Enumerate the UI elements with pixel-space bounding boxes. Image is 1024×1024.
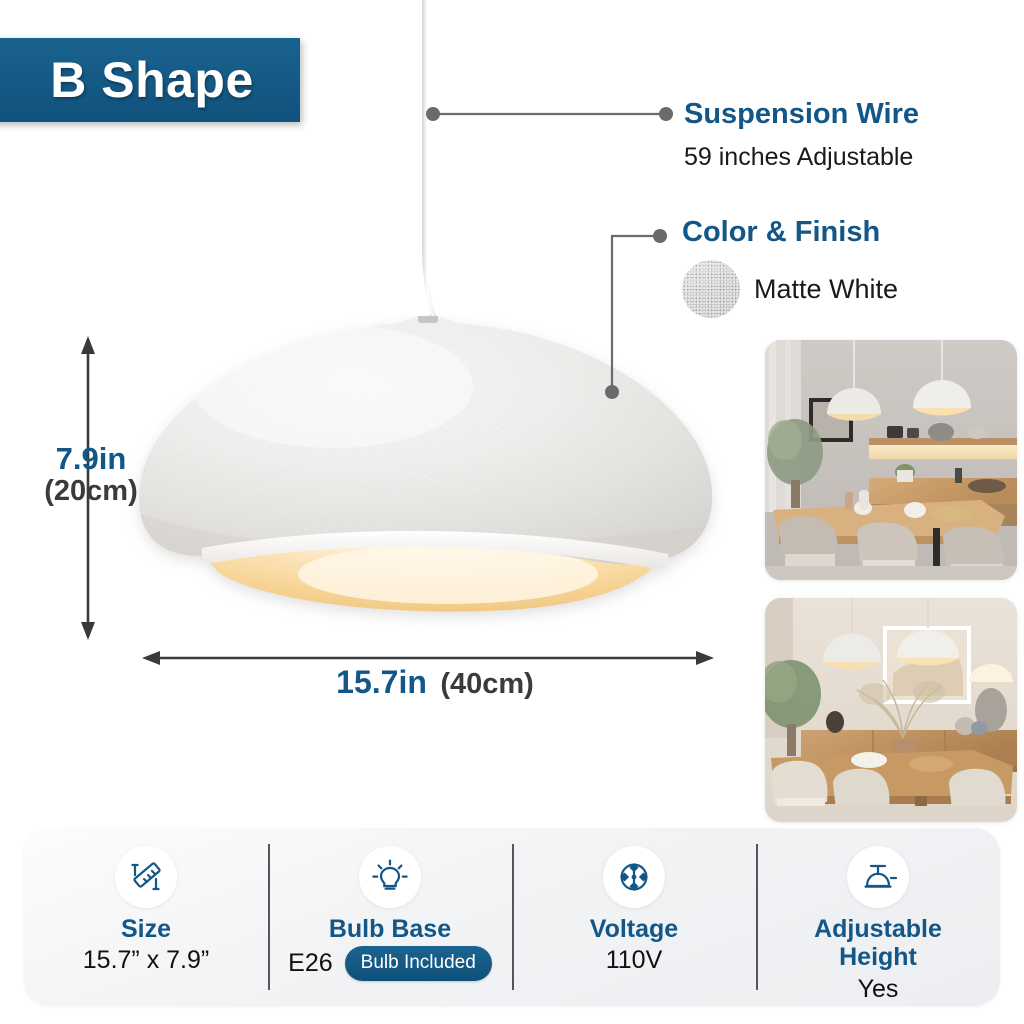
spec-label-bulb-base: Bulb Base bbox=[329, 915, 451, 943]
spec-value-adjustable-height: Yes bbox=[858, 975, 899, 1004]
product-infographic: B Shape Suspension Wire 59 inches Adjust… bbox=[0, 0, 1024, 1024]
spec-value-voltage: 110V bbox=[606, 946, 663, 975]
specification-bar: Size 15.7” x 7.9” Bulb Base E26 Bulb Inc bbox=[24, 828, 1000, 1006]
kitchen-scene-svg bbox=[765, 340, 1017, 580]
spec-item-bulb-base: Bulb Base E26 Bulb Included bbox=[268, 828, 512, 1006]
finish-row: Matte White bbox=[682, 260, 898, 318]
spec-label-size: Size bbox=[121, 915, 171, 943]
shape-badge: B Shape bbox=[0, 38, 300, 122]
callout-suspension-wire-subtitle: 59 inches Adjustable bbox=[684, 142, 919, 172]
adjustable-height-icon bbox=[847, 846, 909, 908]
dining-scene-svg bbox=[765, 598, 1017, 822]
spec-value-size: 15.7” x 7.9” bbox=[83, 946, 209, 975]
dimension-height: 7.9in (20cm) bbox=[26, 442, 156, 508]
suspension-cord bbox=[404, 0, 464, 336]
shape-badge-label: B Shape bbox=[36, 51, 254, 109]
finish-name: Matte White bbox=[754, 274, 898, 305]
spec-label-adjustable-height: Adjustable Height bbox=[793, 915, 963, 972]
spec-value-row-bulb-base: E26 Bulb Included bbox=[288, 946, 492, 981]
matte-white-swatch-icon bbox=[682, 260, 740, 318]
dimension-width: 15.7in (40cm) bbox=[180, 665, 690, 700]
spec-item-adjustable-height: Adjustable Height Yes bbox=[756, 828, 1000, 1006]
lifestyle-photo-kitchen bbox=[765, 340, 1017, 580]
spec-item-voltage: Voltage 110V bbox=[512, 828, 756, 1006]
voltage-icon bbox=[603, 846, 665, 908]
cord-svg bbox=[404, 0, 464, 336]
ruler-icon bbox=[115, 846, 177, 908]
bulb-icon bbox=[359, 846, 421, 908]
callout-color-finish-title: Color & Finish bbox=[682, 216, 898, 248]
spec-item-size: Size 15.7” x 7.9” bbox=[24, 828, 268, 1006]
callout-suspension-wire: Suspension Wire 59 inches Adjustable bbox=[684, 98, 919, 172]
bulb-included-badge: Bulb Included bbox=[345, 946, 492, 981]
lifestyle-photo-dining-room bbox=[765, 598, 1017, 822]
spec-label-voltage: Voltage bbox=[590, 915, 678, 943]
callout-suspension-wire-title: Suspension Wire bbox=[684, 98, 919, 130]
pendant-lamp-product-image bbox=[118, 316, 738, 646]
dimension-height-inches: 7.9in bbox=[26, 442, 156, 475]
callout-color-finish: Color & Finish Matte White bbox=[682, 216, 898, 318]
dimension-width-cm: (40cm) bbox=[440, 668, 534, 700]
dimension-height-cm: (20cm) bbox=[26, 475, 156, 507]
spec-value-bulb-base: E26 bbox=[288, 949, 332, 978]
dimension-width-inches: 15.7in bbox=[336, 664, 427, 700]
lamp-svg bbox=[118, 316, 738, 646]
